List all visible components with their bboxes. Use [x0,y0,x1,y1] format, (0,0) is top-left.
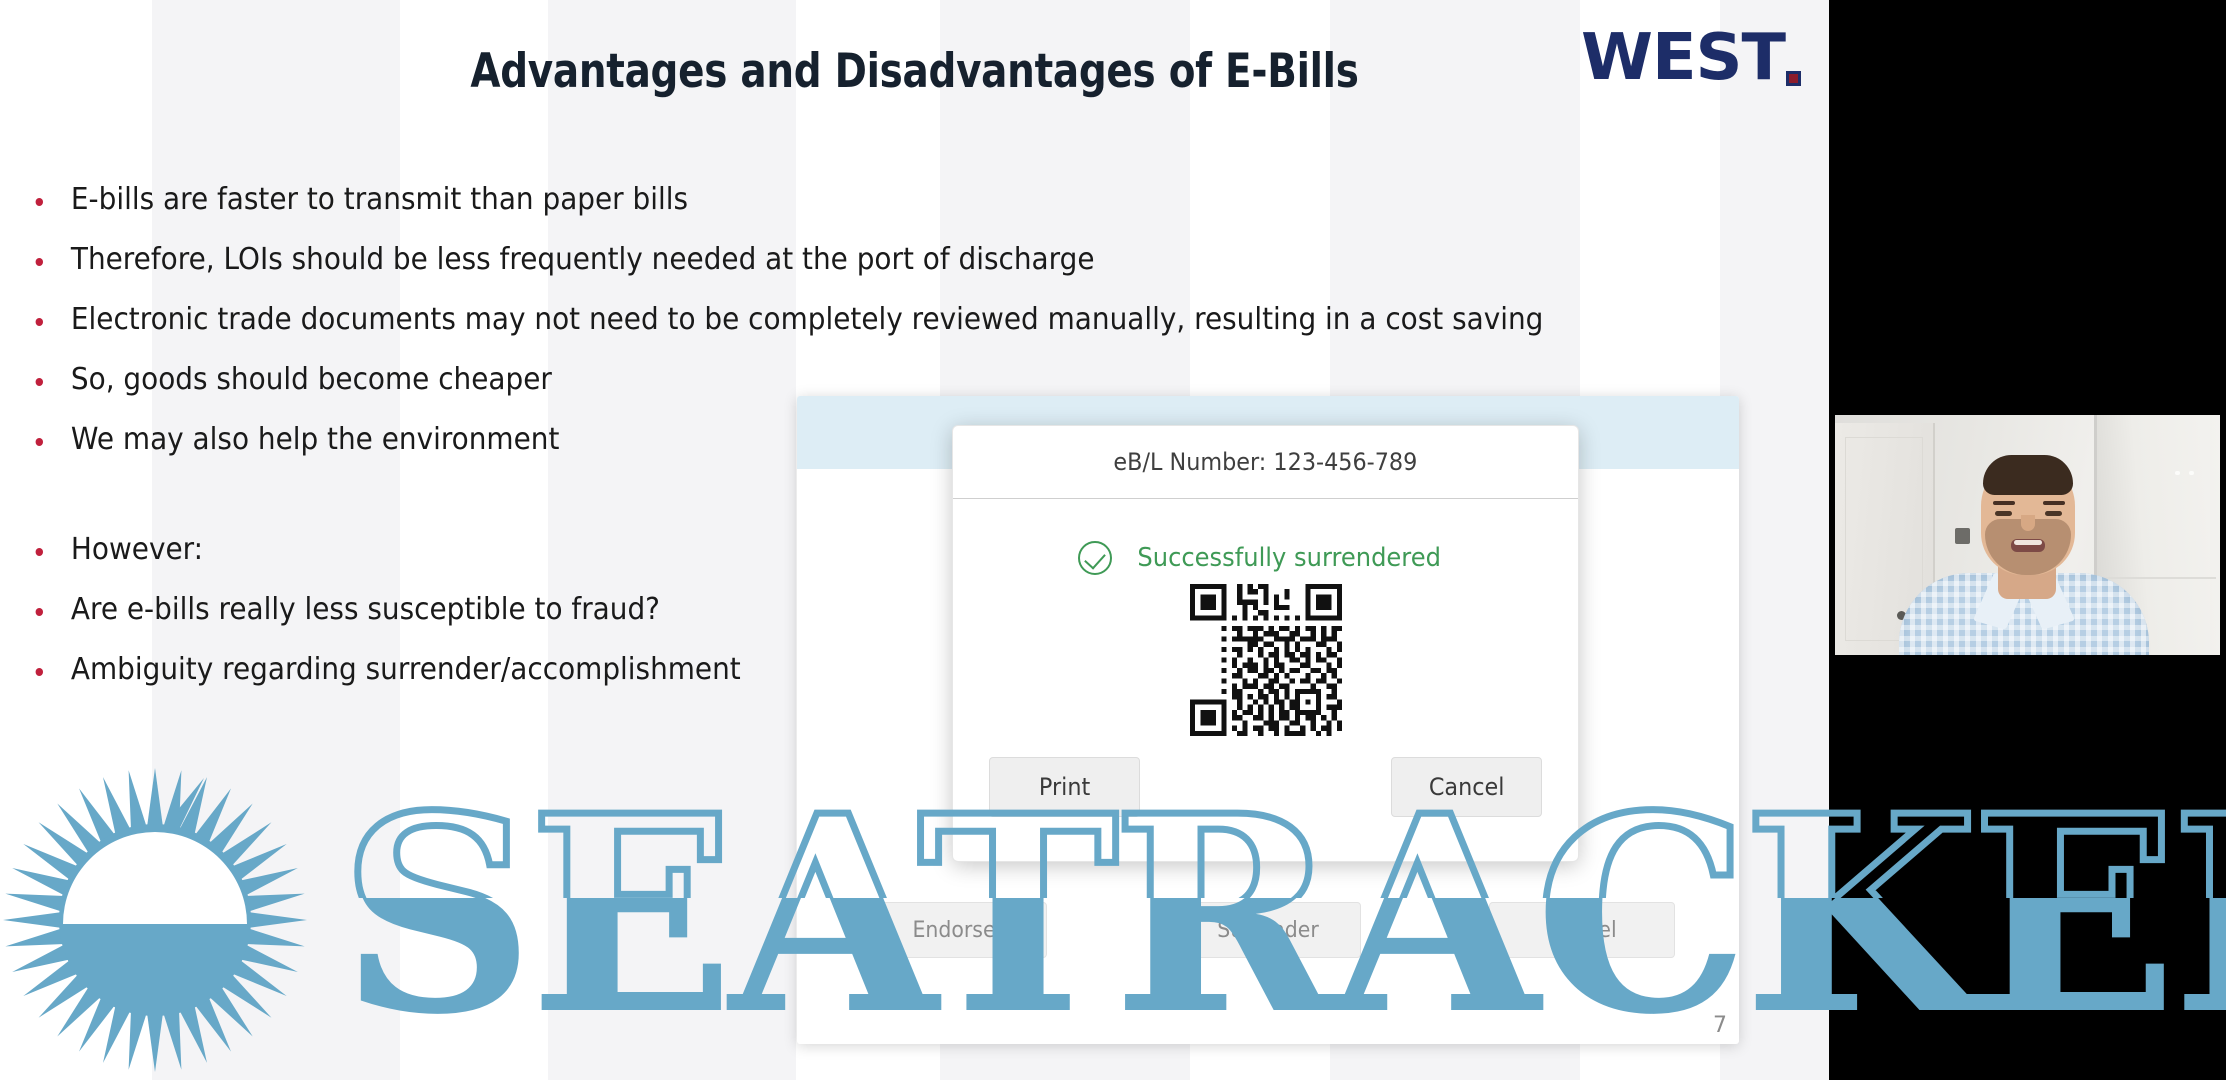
modal-button-row: Print Cancel [953,757,1578,817]
surrender-button[interactable]: Surrender [1175,902,1361,958]
page-number: 7 [1713,1013,1727,1038]
list-item: So, goods should become cheaper [30,365,1667,395]
list-item-label: Therefore, LOIs should be less frequentl… [71,245,1095,275]
check-circle-icon [1078,541,1112,575]
west-logo-text: WEST [1581,26,1785,90]
screen: Advantages and Disadvantages of E-Bills … [0,0,2226,1080]
list-item: Electronic trade documents may not need … [30,305,1667,335]
list-item-label: So, goods should become cheaper [71,365,552,395]
bullet-dot-icon [36,258,43,266]
modal-header: eB/L Number: 123-456-789 [953,426,1578,499]
list-item-label: Ambiguity regarding surrender/accomplish… [71,655,741,685]
print-button-label: Print [1039,773,1090,801]
wall-thermostat [1955,528,1970,544]
modal-cancel-button[interactable]: Cancel [1391,757,1542,817]
video-frame [1835,415,2220,655]
person-mouth [2011,539,2045,552]
ebl-panel-button-row: Endorse Surrender Cancel [797,902,1739,958]
list-item: Therefore, LOIs should be less frequentl… [30,245,1667,275]
bullet-dot-icon [36,438,43,446]
bullet-dot-icon [36,668,43,676]
west-logo: WEST [1581,26,1801,90]
ebl-cancel-button[interactable]: Cancel [1489,902,1675,958]
participant-video-tile[interactable] [1835,415,2220,655]
list-item-label: Electronic trade documents may not need … [71,305,1543,335]
person-eyebrow-right [2043,501,2065,505]
person-eyebrow-left [1993,501,2015,505]
wall-highlight [2189,471,2194,475]
person-nose [2021,515,2035,531]
slide-title: Advantages and Disadvantages of E-Bills [73,44,1756,99]
bullet-dot-icon [36,318,43,326]
ebl-number-label: eB/L Number: 123-456-789 [1114,448,1418,476]
bullet-dot-icon [36,548,43,556]
person-hair [1983,455,2073,495]
list-item-label: However: [71,535,203,565]
modal-status: Successfully surrendered [953,541,1578,575]
modal-cancel-button-label: Cancel [1429,773,1505,801]
person-eye-left [1995,511,2012,516]
list-item-label: We may also help the environment [71,425,559,455]
bullet-dot-icon [36,378,43,386]
wall-highlight [2175,471,2180,475]
bullet-dot-icon [36,198,43,206]
status-badge: Successfully surrendered [1138,543,1442,573]
cabinet-seam [2104,577,2216,579]
video-rail [1829,0,2226,1080]
list-item-label: Are e-bills really less susceptible to f… [71,595,660,625]
surrender-confirmation-modal: eB/L Number: 123-456-789 Successfully su… [952,425,1579,862]
shared-slide: Advantages and Disadvantages of E-Bills … [0,0,1829,1080]
west-logo-dot-icon [1786,71,1801,86]
qr-code-icon [1190,584,1342,736]
person-eye-right [2045,511,2062,516]
endorse-button[interactable]: Endorse [861,902,1047,958]
bullet-dot-icon [36,608,43,616]
list-item-label: E-bills are faster to transmit than pape… [71,185,688,215]
list-item: E-bills are faster to transmit than pape… [30,185,1667,215]
print-button[interactable]: Print [989,757,1140,817]
